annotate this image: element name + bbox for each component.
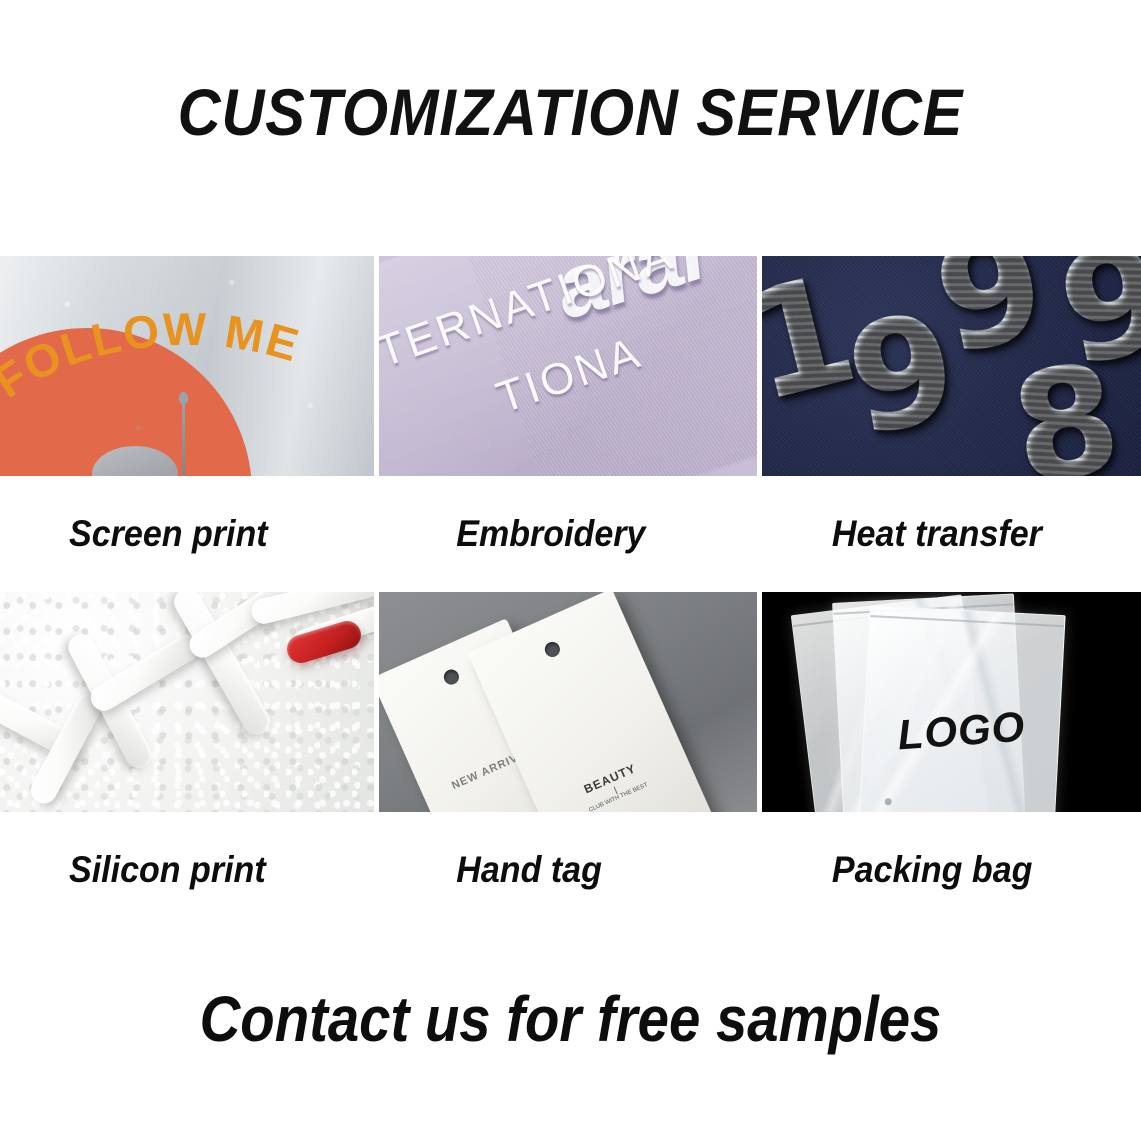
hand-tag-photo: NEW ARRIVAL BEAUTY CLUB WITH THE BEST	[379, 592, 756, 812]
page-title: CUSTOMIZATION SERVICE	[57, 74, 1084, 150]
packing-bag-logo-text: LOGO	[896, 703, 1027, 760]
gallery-cell-silicon-print[interactable]: Silicon print	[0, 592, 374, 928]
gallery-cell-embroidery[interactable]: aral TERNATIONA TIONA Embroidery	[379, 256, 756, 592]
packing-bag-front: LOGO	[858, 605, 1065, 812]
gallery-row: Silicon print NEW ARRIVAL BEAUTY CLUB WI…	[0, 592, 1141, 928]
gallery-cell-screen-print[interactable]: N'T FOLLOW ME Screen print	[0, 256, 374, 592]
embroidery-photo: aral TERNATIONA TIONA	[379, 256, 756, 476]
customization-gallery-grid: N'T FOLLOW ME Screen print aral TERNATIO…	[0, 256, 1141, 928]
antenna-print-detail	[182, 400, 185, 476]
screen-print-photo: N'T FOLLOW ME	[0, 256, 374, 476]
coral-disc-shape	[0, 328, 252, 476]
gallery-row: N'T FOLLOW ME Screen print aral TERNATIO…	[0, 256, 1141, 592]
gallery-caption-silicon-print: Silicon print	[0, 812, 344, 928]
packing-bag-photo: LOGO	[762, 592, 1141, 812]
gallery-caption-hand-tag: Hand tag	[379, 812, 726, 928]
bag-vent-hole	[884, 798, 891, 805]
gallery-caption-screen-print: Screen print	[0, 476, 344, 592]
print-highlight-blob	[92, 446, 178, 476]
silicon-print-photo	[0, 592, 374, 812]
contact-cta-text: Contact us for free samples	[68, 982, 1072, 1056]
gallery-cell-packing-bag[interactable]: LOGO Packing bag	[762, 592, 1141, 928]
tag-punch-hole	[442, 667, 462, 687]
gallery-caption-heat-transfer: Heat transfer	[762, 476, 1111, 592]
heat-transfer-photo: 1 9 9 8 9	[762, 256, 1141, 476]
screen-print-arc-text: N'T FOLLOW ME	[0, 308, 374, 476]
tag-punch-hole	[543, 640, 563, 660]
gallery-cell-heat-transfer[interactable]: 1 9 9 8 9 Heat transfer	[762, 256, 1141, 592]
gallery-cell-hand-tag[interactable]: NEW ARRIVAL BEAUTY CLUB WITH THE BEST Ha…	[379, 592, 756, 928]
gallery-caption-embroidery: Embroidery	[379, 476, 726, 592]
gallery-caption-packing-bag: Packing bag	[762, 812, 1111, 928]
svg-text:N'T FOLLOW ME: N'T FOLLOW ME	[0, 308, 306, 476]
